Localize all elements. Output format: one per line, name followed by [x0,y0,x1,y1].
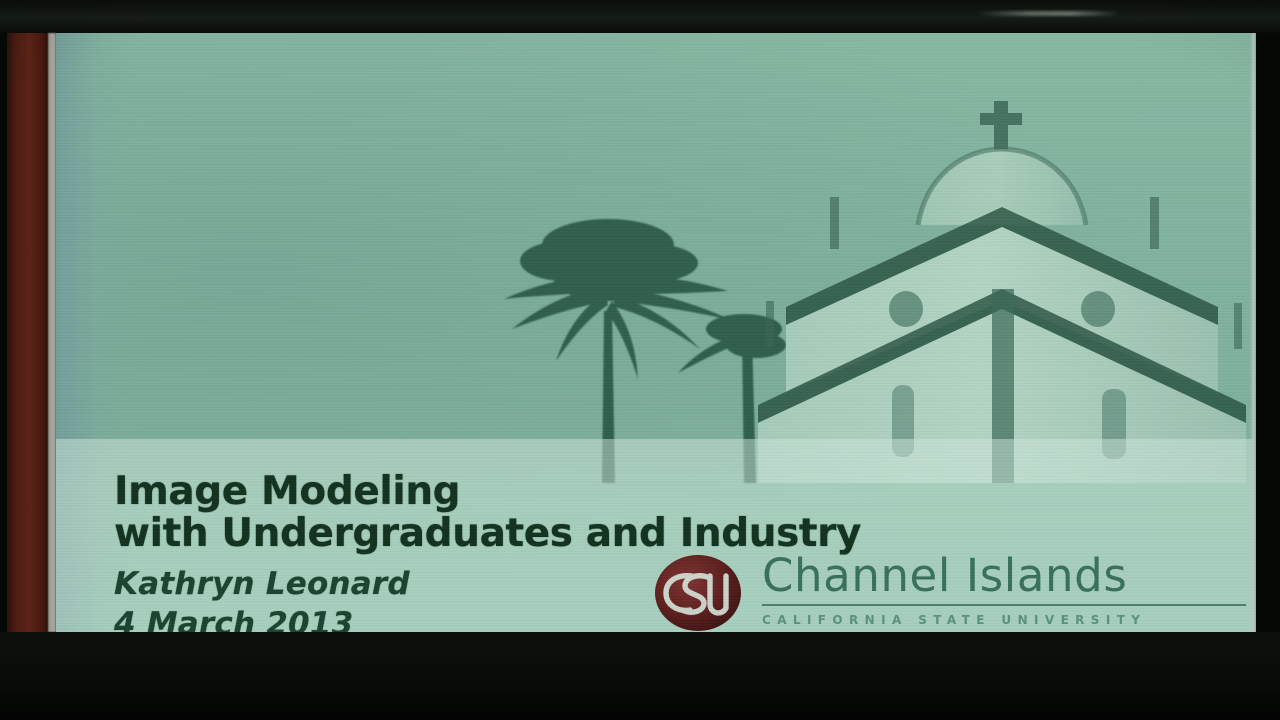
csu-wordmark-subtitle: CALIFORNIA STATE UNIVERSITY [762,613,1256,627]
projection-screen-left-edge [7,33,48,632]
projection-screen-left-highlight [48,33,56,632]
slide-date: 4 March 2013 [114,606,353,632]
light-reflection-streak-icon [978,11,1120,16]
slide-author: Kathryn Leonard [114,566,410,602]
video-capture-frame: Image Modeling with Undergraduates and I… [0,0,1280,720]
csu-wordmark-rule [762,604,1246,606]
csu-channel-islands-logo: Channel Islands CALIFORNIA STATE UNIVERS… [654,528,1256,632]
csu-wordmark-text: Channel Islands [762,550,1256,602]
csu-wordmark: Channel Islands CALIFORNIA STATE UNIVERS… [762,550,1256,627]
slide-text-layer: Image Modeling with Undergraduates and I… [56,33,1256,632]
letterbox-band-bottom [0,632,1280,720]
letterbox-band-top [0,0,1280,33]
csu-roundel-icon [654,554,742,632]
projection-screen-right-highlight [1250,33,1256,632]
slide-title-line-1: Image Modeling [114,469,460,514]
projected-slide: Image Modeling with Undergraduates and I… [56,33,1256,632]
